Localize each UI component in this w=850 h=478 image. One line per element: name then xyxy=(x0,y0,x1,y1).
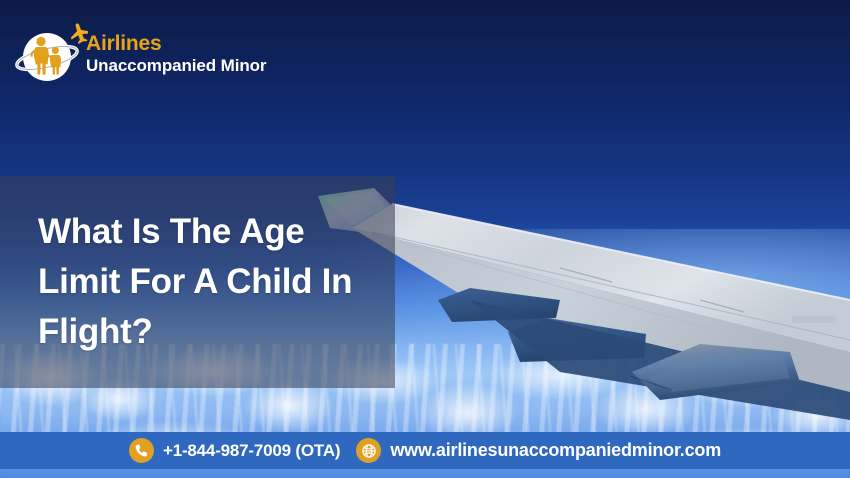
globe-icon xyxy=(356,438,381,463)
phone-number: +1-844-987-7009 (OTA) xyxy=(163,441,340,461)
brand-logo[interactable]: Airlines Unaccompanied Minor xyxy=(14,22,266,84)
family-globe-plane-logo-icon xyxy=(14,22,88,84)
brand-name-secondary: Unaccompanied Minor xyxy=(86,57,266,74)
website-url: www.airlinesunaccompaniedminor.com xyxy=(390,440,721,461)
page-title: What Is The Age Limit For A Child In Fli… xyxy=(0,207,395,356)
brand-name-primary: Airlines xyxy=(86,33,266,54)
brand-logo-text: Airlines Unaccompanied Minor xyxy=(86,33,266,74)
headline-overlay: What Is The Age Limit For A Child In Fli… xyxy=(0,176,395,388)
phone-icon xyxy=(129,438,154,463)
website-contact[interactable]: www.airlinesunaccompaniedminor.com xyxy=(356,438,721,463)
promo-banner: Airlines Unaccompanied Minor What Is The… xyxy=(0,0,850,478)
phone-contact[interactable]: +1-844-987-7009 (OTA) xyxy=(129,438,340,463)
contact-bar: +1-844-987-7009 (OTA) www.airlinesunacco… xyxy=(0,432,850,469)
